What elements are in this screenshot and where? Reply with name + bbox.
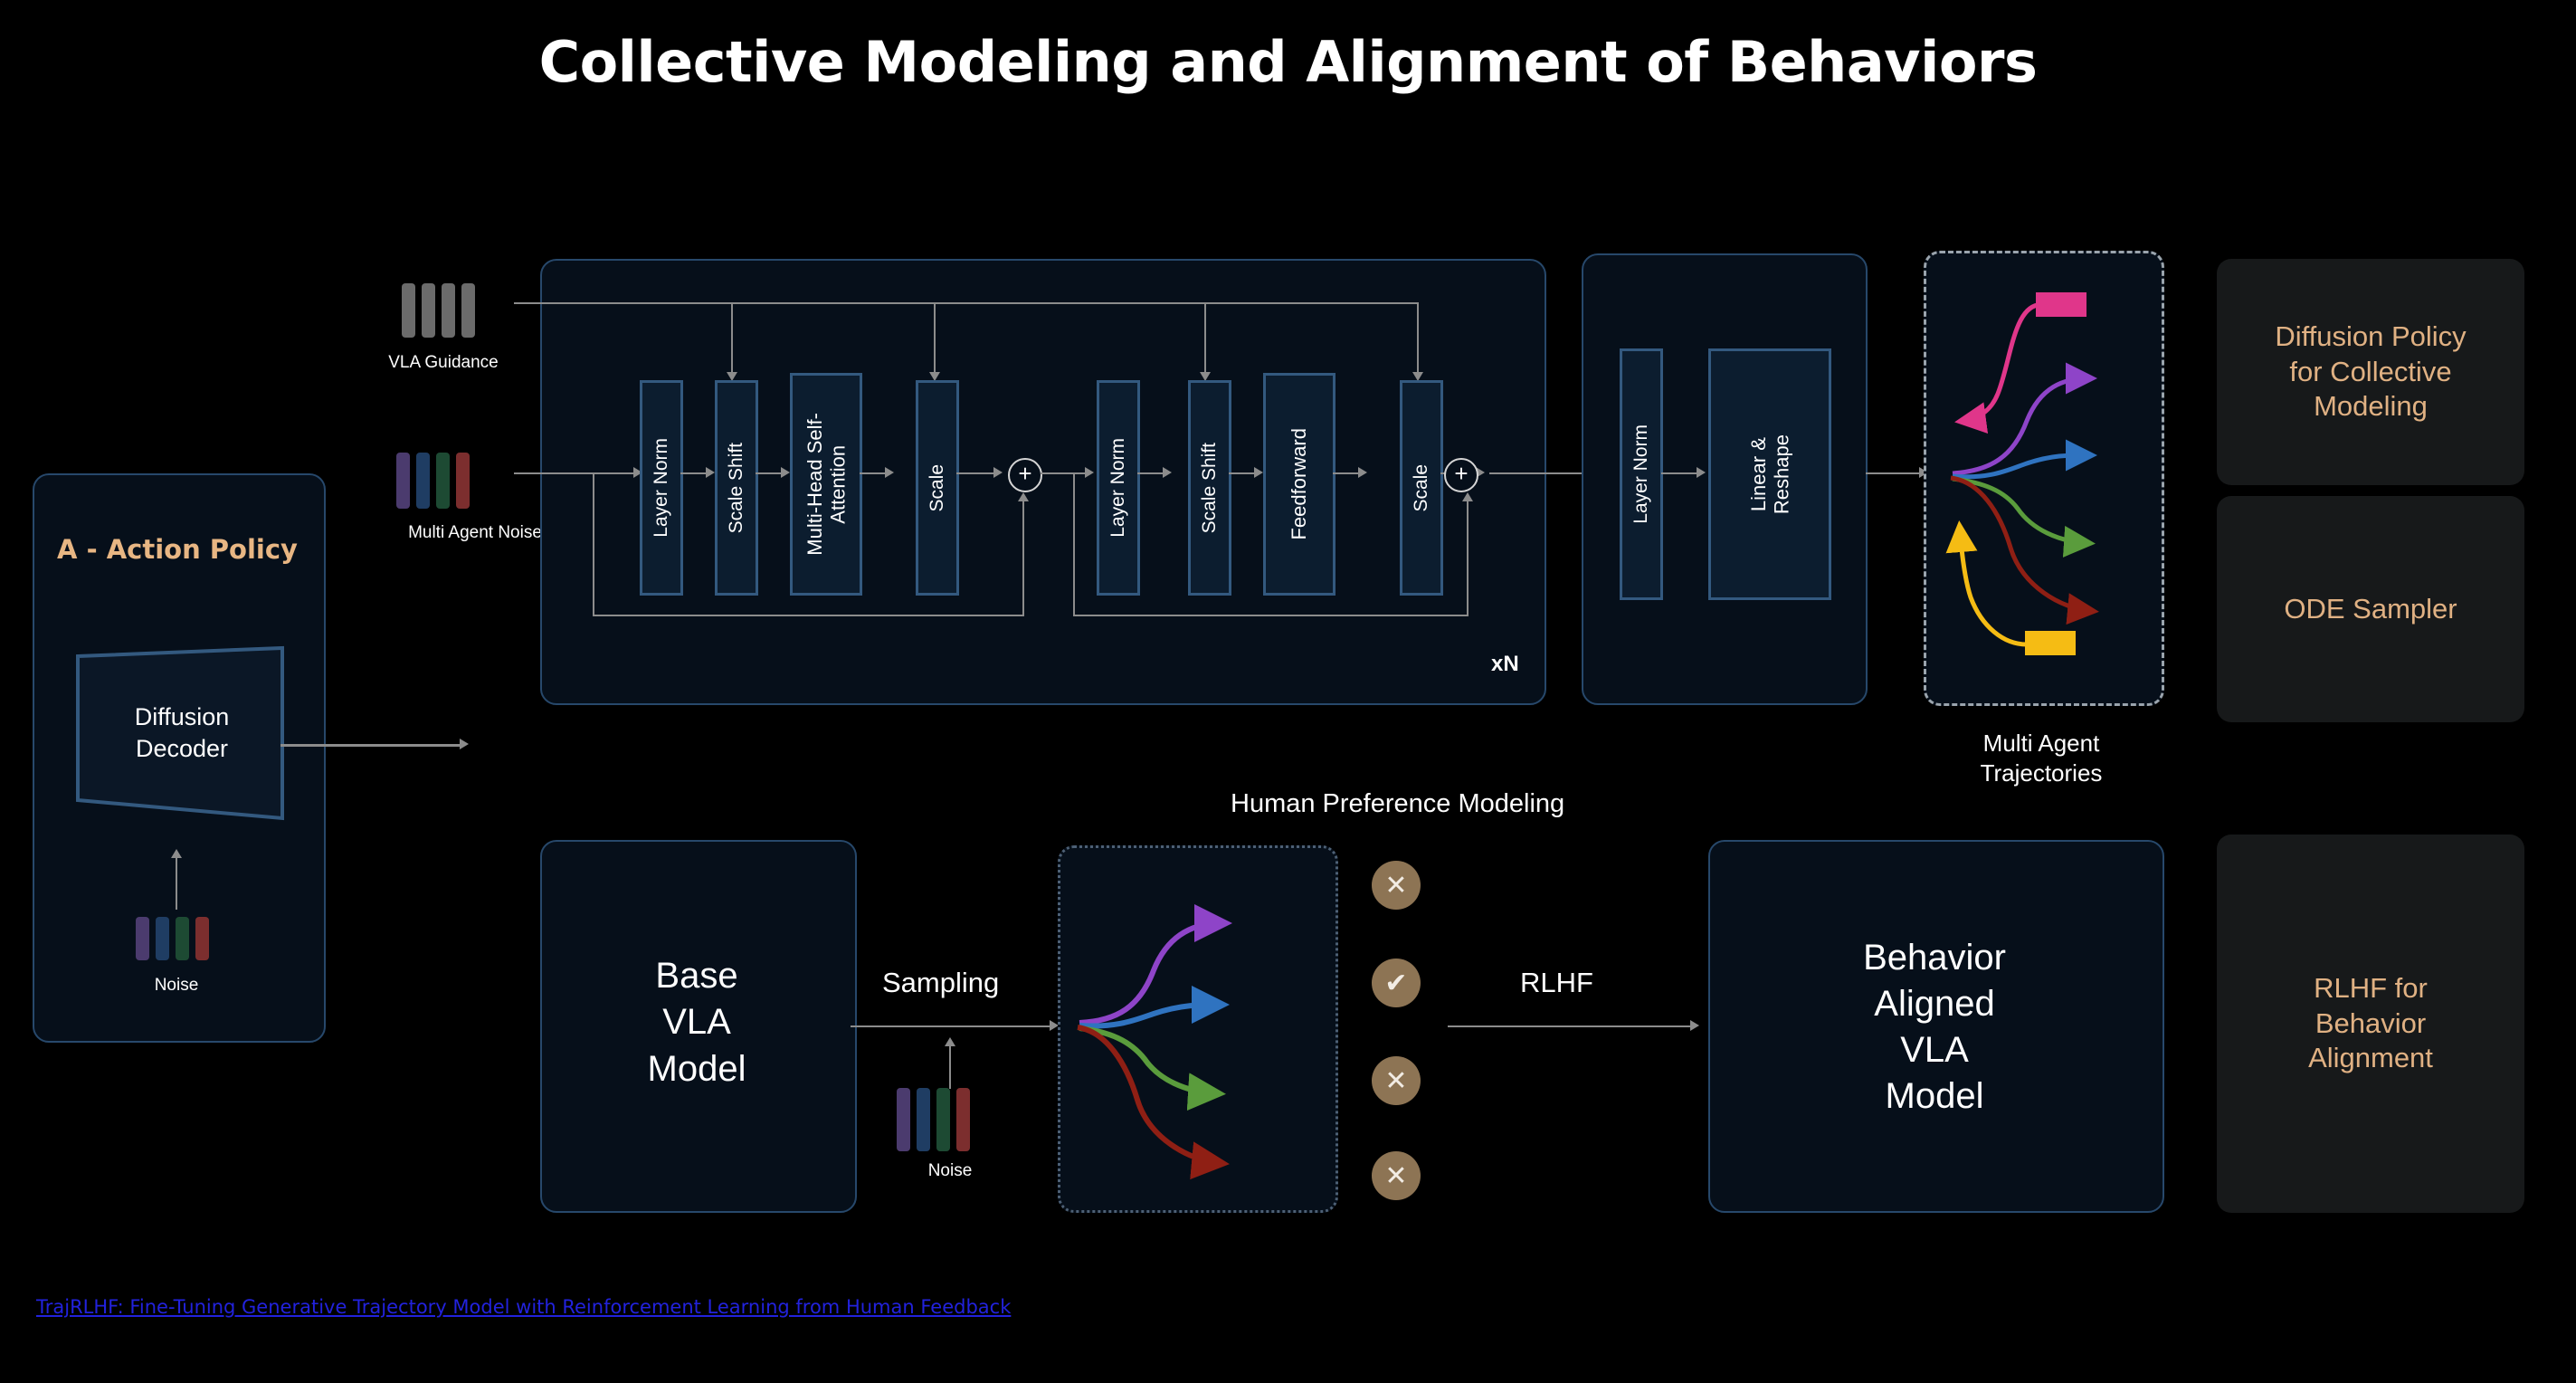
residual-1-across: [593, 615, 1023, 616]
transformer-block-scale-shift-2: Scale Shift: [1188, 380, 1231, 596]
transformer-repeat-label: xN: [1491, 652, 1519, 677]
head-lnorm-linear-arrowhead: [1697, 467, 1706, 478]
tb4-add1-arrowhead: [993, 467, 1003, 478]
transformer-panel: [540, 259, 1546, 705]
residual-2-across: [1073, 615, 1469, 616]
rlhf-label: RLHF: [1520, 967, 1593, 999]
sampling-noise-bars: [897, 1088, 970, 1151]
decoder-to-transformer-arrowhead: [460, 739, 469, 749]
transformer-block-label: Layer Norm: [1107, 438, 1129, 538]
action-policy-heading: A - Action Policy: [33, 534, 322, 565]
transformer-block-label: Multi-Head Self- Attention: [803, 413, 850, 556]
noise-to-transformer-line: [514, 472, 635, 474]
multi-agent-trajectories-caption: Multi Agent Trajectories: [1924, 729, 2159, 787]
tb3-tb4-line: [860, 472, 887, 474]
residual-add-1: +: [1008, 458, 1042, 492]
head-block-label: Linear & Reshape: [1747, 434, 1793, 514]
guidance-branch-2: [934, 302, 936, 375]
transformer-block-scale-2: Scale: [1400, 380, 1443, 596]
sidebar-card-diffusion-policy[interactable]: Diffusion Policy for Collective Modeling: [2217, 259, 2524, 485]
tb2-tb3-arrowhead: [781, 467, 790, 478]
preference-badge-1[interactable]: ✕: [1372, 861, 1421, 910]
vla-guidance-label: VLA Guidance: [362, 353, 525, 373]
transformer-block-multi-head-self-attention: Multi-Head Self- Attention: [790, 373, 862, 596]
preference-badge-3[interactable]: ✕: [1372, 1056, 1421, 1105]
decoder-to-transformer-line: [280, 744, 461, 747]
guidance-branch-1: [731, 302, 733, 375]
tb5-tb6-line: [1137, 472, 1164, 474]
decoder-noise-line: [176, 857, 177, 910]
tb7-tb8-arrowhead: [1358, 467, 1367, 478]
transformer-block-label: Scale Shift: [1199, 443, 1221, 533]
sampling-noise-label: Noise: [882, 1161, 1018, 1181]
tb1-tb2-arrowhead: [706, 467, 715, 478]
decoder-noise-arrowhead: [171, 849, 182, 858]
tb6-tb7-line: [1229, 472, 1256, 474]
behavior-aligned-model-label: Behavior Aligned VLA Model: [1708, 914, 2161, 1140]
transformer-to-head-line: [1489, 472, 1589, 474]
residual-2-arrowhead: [1462, 492, 1473, 501]
action-policy-noise-bars: [136, 917, 209, 960]
sidebar-card-rlhf-behavior-alignment[interactable]: RLHF for Behavior Alignment: [2217, 835, 2524, 1213]
sampling-label: Sampling: [882, 967, 999, 999]
residual-2-down: [1073, 472, 1075, 615]
add1-tb5-arrowhead: [1085, 467, 1094, 478]
tb5-tb6-arrowhead: [1163, 467, 1172, 478]
transformer-block-label: Scale: [927, 464, 948, 512]
close-icon: ✕: [1384, 1160, 1407, 1192]
preference-badge-4[interactable]: ✕: [1372, 1151, 1421, 1200]
tb6-tb7-arrowhead: [1254, 467, 1263, 478]
transformer-block-layer-norm-2: Layer Norm: [1097, 380, 1140, 596]
transformer-block-label: Scale: [1411, 464, 1432, 512]
transformer-block-label: Feedforward: [1288, 428, 1310, 540]
tb1-tb2-line: [680, 472, 708, 474]
paper-link[interactable]: TrajRLHF: Fine-Tuning Generative Traject…: [36, 1296, 1011, 1318]
close-icon: ✕: [1384, 870, 1407, 901]
residual-add-2: +: [1444, 458, 1478, 492]
head-block-linear-reshape: Linear & Reshape: [1708, 348, 1831, 600]
head-block-label: Layer Norm: [1630, 424, 1652, 524]
multi-agent-noise-bars: [396, 453, 470, 509]
head-block-layer-norm: Layer Norm: [1620, 348, 1663, 600]
tb3-tb4-arrowhead: [885, 467, 894, 478]
transformer-block-label: Scale Shift: [726, 443, 747, 533]
transformer-block-layer-norm-1: Layer Norm: [640, 380, 683, 596]
residual-1-arrowhead: [1018, 492, 1029, 501]
human-preference-modeling-label: Human Preference Modeling: [1231, 789, 1564, 819]
transformer-block-scale-shift-1: Scale Shift: [715, 380, 758, 596]
transformer-block-feedforward: Feedforward: [1263, 373, 1336, 596]
multi-agent-trajectory-curves: [1927, 253, 2157, 697]
action-policy-noise-label: Noise: [109, 976, 244, 996]
residual-1-down: [593, 472, 594, 615]
tb2-tb3-line: [756, 472, 783, 474]
preference-badge-2[interactable]: ✔: [1372, 959, 1421, 1007]
vla-guidance-bars: [402, 283, 475, 338]
sampled-trajectory-curves: [1063, 851, 1329, 1204]
head-lnorm-linear-line: [1661, 472, 1699, 474]
rlhf-arrowhead: [1690, 1020, 1699, 1031]
page-title: Collective Modeling and Alignment of Beh…: [0, 29, 2576, 95]
guidance-branch-4: [1417, 302, 1419, 375]
sampling-noise-line: [949, 1045, 951, 1089]
residual-1-up: [1022, 501, 1024, 616]
base-vla-model-label: Base VLA Model: [540, 932, 853, 1113]
guidance-branch-3: [1204, 302, 1206, 375]
transformer-block-label: Layer Norm: [651, 438, 672, 538]
sampling-noise-arrowhead: [945, 1037, 955, 1046]
tb4-add1-line: [956, 472, 996, 474]
residual-2-up: [1467, 501, 1469, 616]
guidance-bus-line: [514, 302, 1419, 304]
check-icon: ✔: [1384, 968, 1407, 999]
transformer-block-scale-1: Scale: [916, 380, 959, 596]
close-icon: ✕: [1384, 1065, 1407, 1097]
sidebar-card-ode-sampler[interactable]: ODE Sampler: [2217, 496, 2524, 722]
diffusion-decoder-label: Diffusion Decoder: [78, 697, 286, 769]
add1-tb5-line: [1041, 472, 1088, 474]
sampling-arrow-line: [851, 1025, 1051, 1027]
tb7-tb8-line: [1333, 472, 1360, 474]
head-to-trajectories-line: [1866, 472, 1922, 474]
rlhf-arrow-line: [1448, 1025, 1692, 1027]
